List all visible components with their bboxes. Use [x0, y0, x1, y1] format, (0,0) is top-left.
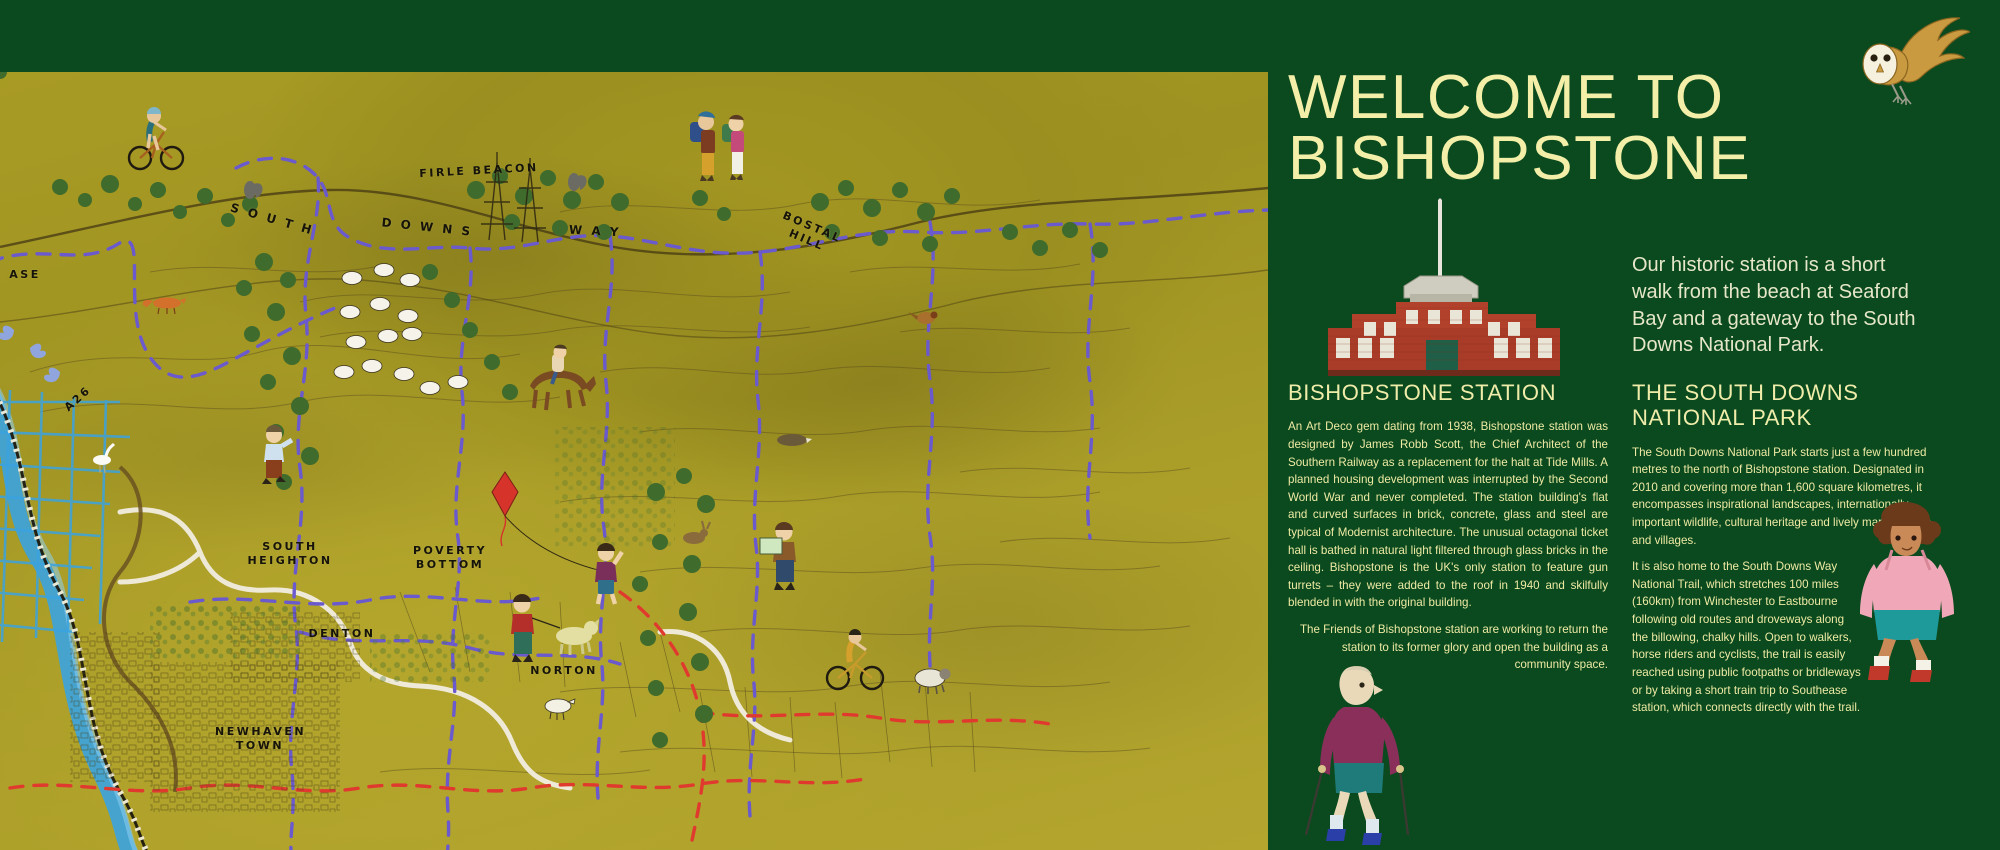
map-graphics [0, 72, 1268, 850]
nordic-walker-icon [1304, 655, 1424, 850]
paragraph: An Art Deco gem dating from 1938, Bishop… [1288, 418, 1608, 612]
paragraph: It is also home to the South Downs Way N… [1632, 558, 1862, 716]
welcome-poster: ASEFIRLE BEACONS O U T HD O W N SW A YBO… [0, 0, 2000, 850]
column-bishopstone-station: BISHOPSTONE STATION An Art Deco gem dati… [1288, 380, 1608, 683]
map-label-newhaven: NEWHAVEN TOWN [215, 725, 305, 753]
map-label-denton: DENTON [306, 627, 378, 641]
info-panel: WELCOME TO BISHOPSTONE [1268, 0, 2000, 850]
map-reader-illustration [758, 520, 814, 597]
page-title: WELCOME TO BISHOPSTONE [1288, 68, 1888, 190]
column-heading: THE SOUTH DOWNS NATIONAL PARK [1632, 380, 1952, 431]
column-body: An Art Deco gem dating from 1938, Bishop… [1288, 418, 1608, 674]
hikers-illustration [684, 108, 754, 193]
title-line-2: BISHOPSTONE [1288, 129, 1888, 190]
map-label-poverty-bottom: POVERTY BOTTOM [405, 544, 495, 572]
illustrated-map[interactable]: ASEFIRLE BEACONS O U T HD O W N SW A YBO… [0, 72, 1268, 850]
horse-rider-illustration [518, 342, 598, 419]
hiker-girl-icon [1848, 500, 1968, 690]
station-building-icon [1292, 188, 1592, 383]
intro-text: Our historic station is a short walk fro… [1632, 252, 1922, 359]
mountain-biker-illustration [822, 628, 892, 697]
dog-walker-illustration [498, 592, 608, 669]
title-line-1: WELCOME TO [1288, 63, 1724, 132]
map-label-south-heighton: SOUTH HEIGHTON [240, 540, 340, 568]
grazing-sheep-illustration [910, 662, 954, 699]
walker-illustration [252, 424, 298, 491]
title-block: WELCOME TO BISHOPSTONE [1288, 68, 1888, 190]
cyclist-illustration [118, 102, 190, 177]
column-heading: BISHOPSTONE STATION [1288, 380, 1608, 405]
map-label-norton: NORTON [528, 664, 600, 678]
map-label-chase: ASE [0, 268, 52, 282]
